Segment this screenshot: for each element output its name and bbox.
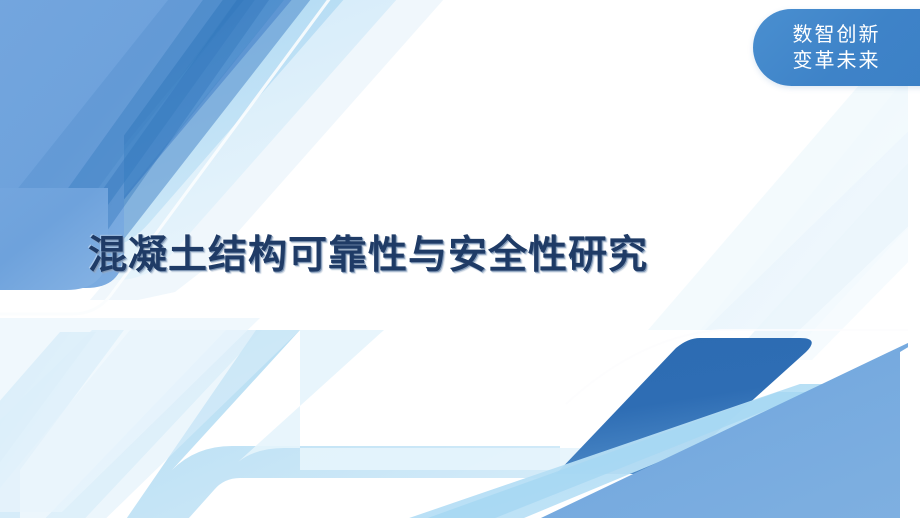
upper-right-rays (648, 60, 920, 360)
tagline-line-2: 变革未来 (793, 48, 881, 74)
bottom-right-deep-band (556, 330, 920, 474)
center-pale-sweep (0, 318, 260, 512)
tagline-line-1: 数智创新 (793, 22, 881, 48)
bottom-right-triangle (380, 340, 920, 518)
slide-title: 混凝土结构可靠性与安全性研究 (88, 233, 788, 279)
bottom-left-bands (0, 330, 620, 518)
tagline-badge: 数智创新 变革未来 (753, 9, 920, 86)
title-slide: 数智创新 变革未来 混凝土结构可靠性与安全性研究 (0, 0, 920, 518)
